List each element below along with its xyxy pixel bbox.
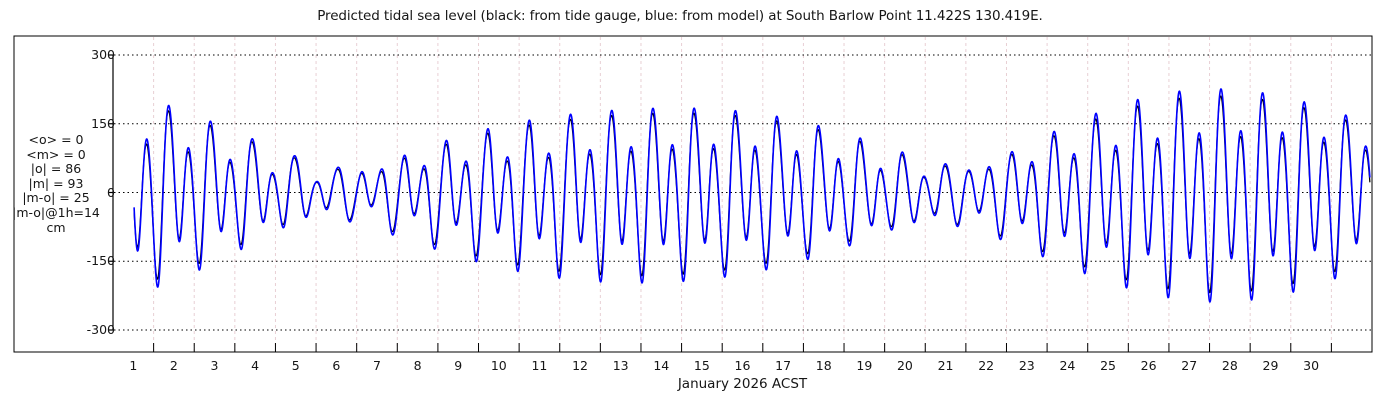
- y-tick-label: -150: [87, 253, 115, 268]
- y-tick-label: 0: [107, 185, 115, 200]
- x-tick-label: 9: [443, 358, 473, 373]
- x-tick-label: 22: [971, 358, 1001, 373]
- statistics-block: <o> = 0 <m> = 0 |o| = 86 |m| = 93 |m-o| …: [2, 133, 110, 235]
- x-tick-label: 21: [931, 358, 961, 373]
- y-tick-label: -300: [87, 322, 115, 337]
- x-tick-label: 30: [1296, 358, 1326, 373]
- x-tick-label: 16: [728, 358, 758, 373]
- stat-mean-observed: <o> = 0: [2, 133, 110, 148]
- stat-abs-diff: |m-o| = 25: [2, 191, 110, 206]
- x-tick-label: 4: [240, 358, 270, 373]
- x-tick-label: 17: [768, 358, 798, 373]
- x-tick-label: 18: [809, 358, 839, 373]
- series-line-from-model: [134, 89, 1370, 302]
- x-tick-label: 5: [281, 358, 311, 373]
- stat-abs-model: |m| = 93: [2, 177, 110, 192]
- stat-units: cm: [2, 221, 110, 236]
- series-line-from-tide-gauge: [134, 96, 1370, 292]
- y-tick-label: 150: [91, 116, 115, 131]
- x-tick-label: 7: [362, 358, 392, 373]
- x-tick-label: 2: [159, 358, 189, 373]
- x-tick-label: 14: [646, 358, 676, 373]
- x-tick-label: 10: [484, 358, 514, 373]
- x-tick-label: 12: [565, 358, 595, 373]
- x-tick-label: 20: [890, 358, 920, 373]
- x-axis-title: January 2026 ACST: [113, 376, 1372, 392]
- y-tick-label: 300: [91, 47, 115, 62]
- data-series: [134, 89, 1370, 302]
- x-tick-label: 25: [1093, 358, 1123, 373]
- x-tick-label: 3: [200, 358, 230, 373]
- x-tick-label: 15: [687, 358, 717, 373]
- x-tick-label: 1: [118, 358, 148, 373]
- x-tick-label: 19: [849, 358, 879, 373]
- x-tick-label: 26: [1134, 358, 1164, 373]
- chart-page: Predicted tidal sea level (black: from t…: [0, 0, 1400, 400]
- x-tick-label: 11: [524, 358, 554, 373]
- x-tick-label: 24: [1052, 358, 1082, 373]
- stat-mean-model: <m> = 0: [2, 148, 110, 163]
- x-tick-label: 27: [1174, 358, 1204, 373]
- x-tick-label: 29: [1255, 358, 1285, 373]
- stat-abs-diff-1h: |m-o|@1h=14: [2, 206, 110, 221]
- x-tick-label: 8: [403, 358, 433, 373]
- tidal-plot: [0, 0, 1400, 400]
- x-tick-label: 6: [321, 358, 351, 373]
- x-tick-label: 13: [606, 358, 636, 373]
- x-tick-label: 28: [1215, 358, 1245, 373]
- stat-abs-observed: |o| = 86: [2, 162, 110, 177]
- x-tick-label: 23: [1012, 358, 1042, 373]
